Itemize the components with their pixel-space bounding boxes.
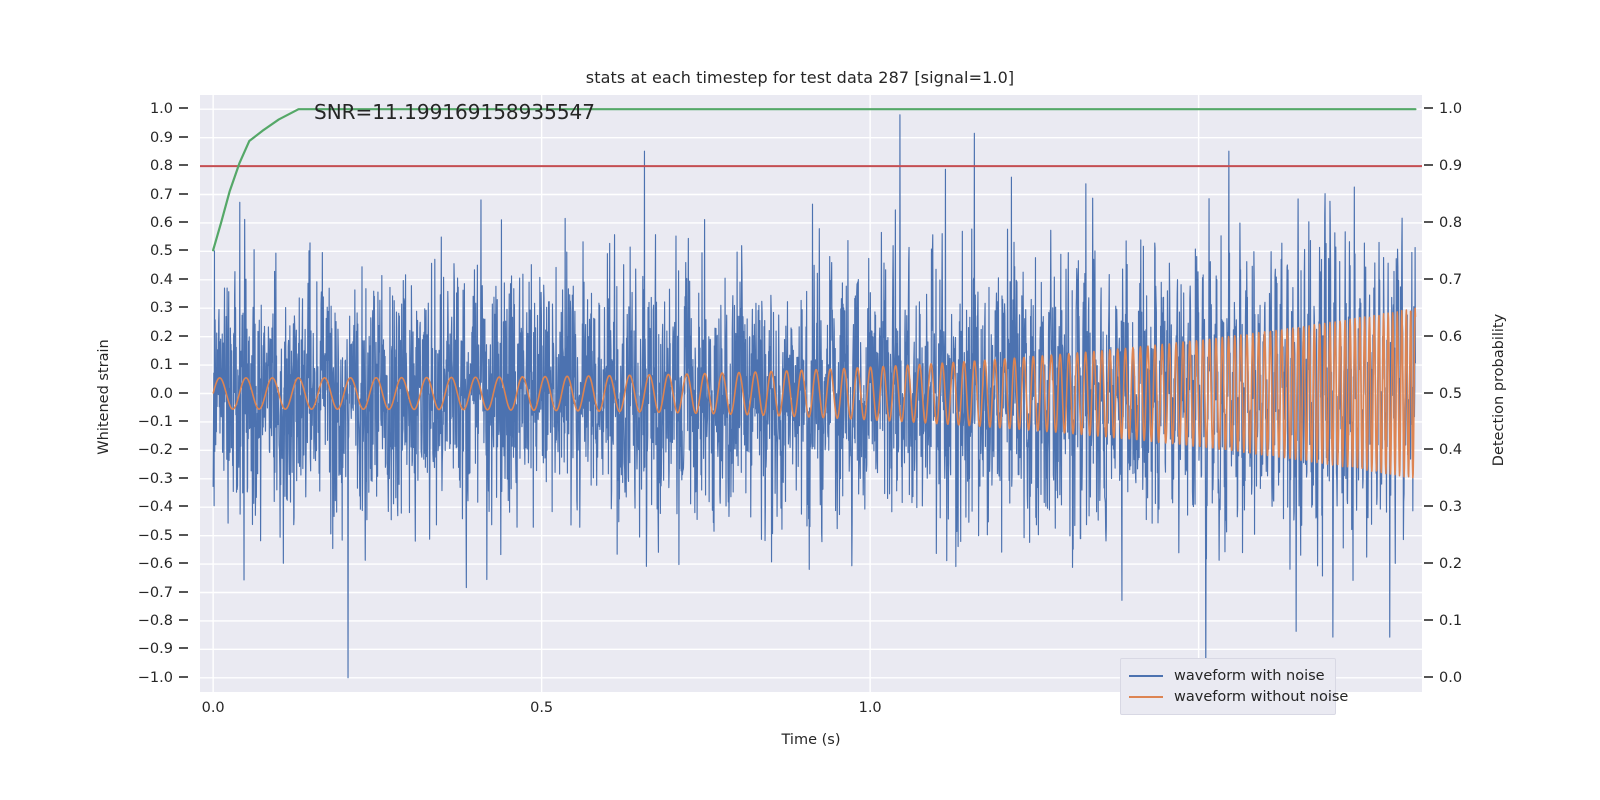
chart-title: stats at each timestep for test data 287… bbox=[0, 68, 1600, 87]
y-tick-right-0p2: 0.2 bbox=[1424, 556, 1462, 572]
y-tick-left-0p0: 0.0 bbox=[150, 386, 188, 402]
y-tick-left-neg0p7: −0.7 bbox=[138, 585, 188, 601]
y-tick-left-0p9: 0.9 bbox=[150, 130, 188, 146]
legend-item-0[interactable]: waveform with noise bbox=[1129, 665, 1327, 686]
y-axis-right-label: Detection probability bbox=[1491, 314, 1507, 466]
y-tick-right-0p0: 0.0 bbox=[1424, 670, 1462, 686]
plot-area bbox=[200, 95, 1422, 692]
y-tick-left-neg0p3: −0.3 bbox=[138, 471, 188, 487]
y-tick-left-neg0p6: −0.6 bbox=[138, 556, 188, 572]
snr-annotation: SNR=11.199169158935547 bbox=[314, 100, 595, 124]
y-tick-left-neg0p1: −0.1 bbox=[138, 414, 188, 430]
y-tick-left-0p8: 0.8 bbox=[150, 158, 188, 174]
y-tick-left-0p1: 0.1 bbox=[150, 357, 188, 373]
y-tick-right-0p3: 0.3 bbox=[1424, 499, 1462, 515]
y-tick-right-0p5: 0.5 bbox=[1424, 386, 1462, 402]
x-tick-0p0: 0.0 bbox=[202, 700, 225, 716]
legend-item-1[interactable]: waveform without noise bbox=[1129, 686, 1327, 707]
data-layer bbox=[200, 95, 1422, 692]
legend-swatch-icon bbox=[1129, 675, 1163, 677]
legend-label: waveform with noise bbox=[1174, 668, 1325, 684]
y-tick-left-0p3: 0.3 bbox=[150, 300, 188, 316]
y-tick-right-0p6: 0.6 bbox=[1424, 329, 1462, 345]
y-tick-left-0p2: 0.2 bbox=[150, 329, 188, 345]
y-tick-left-0p4: 0.4 bbox=[150, 272, 188, 288]
y-tick-left-0p5: 0.5 bbox=[150, 243, 188, 259]
y-tick-right-0p4: 0.4 bbox=[1424, 442, 1462, 458]
y-tick-left-0p6: 0.6 bbox=[150, 215, 188, 231]
y-tick-right-0p8: 0.8 bbox=[1424, 215, 1462, 231]
y-tick-left-neg0p9: −0.9 bbox=[138, 641, 188, 657]
y-tick-left-neg0p8: −0.8 bbox=[138, 613, 188, 629]
legend-label: waveform without noise bbox=[1174, 689, 1348, 705]
x-tick-0p5: 0.5 bbox=[530, 700, 553, 716]
y-tick-left-1p0: 1.0 bbox=[150, 101, 188, 117]
y-tick-left-neg0p4: −0.4 bbox=[138, 499, 188, 515]
y-tick-left-neg1p0: −1.0 bbox=[138, 670, 188, 686]
x-tick-1p0: 1.0 bbox=[859, 700, 882, 716]
y-tick-right-0p9: 0.9 bbox=[1424, 158, 1462, 174]
y-axis-left-label: Whitened strain bbox=[96, 339, 112, 454]
y-tick-right-1p0: 1.0 bbox=[1424, 101, 1462, 117]
chart-legend: waveform with noisewaveform without nois… bbox=[1120, 658, 1336, 715]
x-axis-label: Time (s) bbox=[782, 732, 841, 748]
y-tick-left-neg0p2: −0.2 bbox=[138, 442, 188, 458]
y-tick-left-0p7: 0.7 bbox=[150, 187, 188, 203]
y-tick-right-0p1: 0.1 bbox=[1424, 613, 1462, 629]
legend-swatch-icon bbox=[1129, 696, 1163, 698]
y-tick-right-0p7: 0.7 bbox=[1424, 272, 1462, 288]
y-tick-left-neg0p5: −0.5 bbox=[138, 528, 188, 544]
chart-figure: stats at each timestep for test data 287… bbox=[0, 0, 1600, 800]
